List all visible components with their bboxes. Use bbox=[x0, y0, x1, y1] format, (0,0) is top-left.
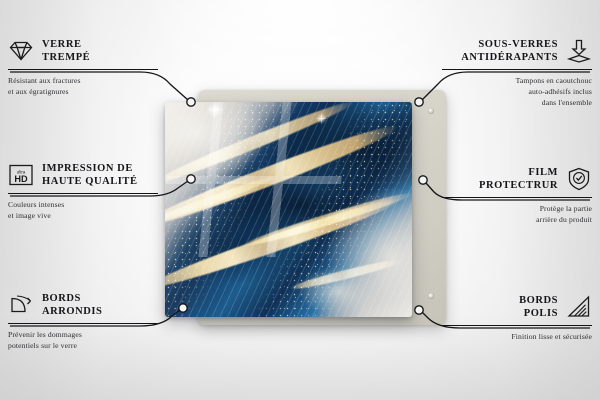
feature-header: BORDS ARRONDIS bbox=[8, 292, 158, 319]
feature-header: SOUS-VERRES ANTIDÉRAPANTS bbox=[442, 38, 592, 65]
feature-description: Tampons en caoutchouc auto-adhésifs incl… bbox=[442, 75, 592, 108]
feature-protective-film: FILM PROTECTRUR Protège la partie arrièr… bbox=[442, 166, 592, 225]
feature-title: FILM PROTECTRUR bbox=[479, 166, 558, 193]
feature-anti-slip-pads: SOUS-VERRES ANTIDÉRAPANTS Tampons en cao… bbox=[442, 38, 592, 108]
feature-title: BORDS ARRONDIS bbox=[42, 292, 102, 319]
feature-high-quality-print: ultra HD IMPRESSION DE HAUTE QUALITÉ Cou… bbox=[8, 162, 158, 221]
mount-hole-bottom-right bbox=[428, 293, 434, 299]
glass-sparkle-icon bbox=[205, 102, 225, 120]
feature-description: Protège la partie arrière du produit bbox=[442, 203, 592, 225]
feature-title: IMPRESSION DE HAUTE QUALITÉ bbox=[42, 162, 138, 189]
feature-description: Résistant aux fractures et aux égratignu… bbox=[8, 75, 158, 97]
svg-text:HD: HD bbox=[14, 174, 28, 184]
ultra-hd-icon: ultra HD bbox=[8, 162, 34, 188]
feature-header: VERRE TREMPÉ bbox=[8, 38, 158, 65]
rounded-corner-icon bbox=[8, 292, 34, 318]
glass-sheen bbox=[165, 102, 412, 317]
shield-check-icon bbox=[566, 166, 592, 192]
feature-divider bbox=[442, 197, 592, 198]
feature-header: ultra HD IMPRESSION DE HAUTE QUALITÉ bbox=[8, 162, 158, 189]
feature-polished-edges: BORDS POLIS Finition lisse et sécurisée bbox=[442, 294, 592, 342]
feature-divider bbox=[8, 69, 158, 70]
mount-hole-top-right bbox=[428, 108, 434, 114]
feature-description: Prévenir les dommages potentiels sur le … bbox=[8, 329, 158, 351]
product-photo bbox=[150, 80, 450, 330]
hatched-triangle-icon bbox=[566, 294, 592, 320]
feature-header: FILM PROTECTRUR bbox=[442, 166, 592, 193]
diamond-icon bbox=[8, 38, 34, 64]
pad-down-arrow-icon bbox=[566, 38, 592, 64]
feature-rounded-edges: BORDS ARRONDIS Prévenir les dommages pot… bbox=[8, 292, 158, 351]
feature-title: BORDS POLIS bbox=[519, 294, 558, 321]
glass-panel-artwork bbox=[165, 102, 412, 317]
feature-title: SOUS-VERRES ANTIDÉRAPANTS bbox=[461, 38, 558, 65]
feature-description: Couleurs intenses et image vive bbox=[8, 199, 158, 221]
feature-description: Finition lisse et sécurisée bbox=[442, 331, 592, 342]
feature-divider bbox=[442, 325, 592, 326]
feature-header: BORDS POLIS bbox=[442, 294, 592, 321]
feature-tempered-glass: VERRE TREMPÉ Résistant aux fractures et … bbox=[8, 38, 158, 97]
product-infographic: VERRE TREMPÉ Résistant aux fractures et … bbox=[0, 0, 600, 400]
feature-divider bbox=[8, 323, 158, 324]
glass-sparkle-icon bbox=[315, 112, 328, 125]
feature-title: VERRE TREMPÉ bbox=[42, 38, 90, 65]
feature-divider bbox=[8, 193, 158, 194]
feature-divider bbox=[442, 69, 592, 70]
